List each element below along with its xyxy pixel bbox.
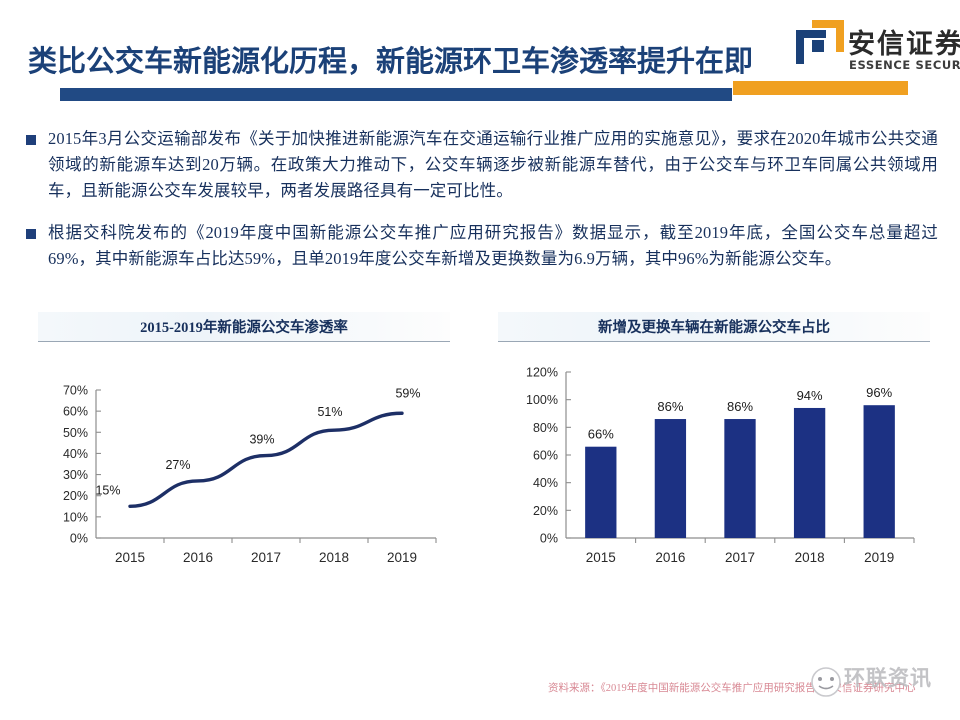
- x-tick-label: 2019: [864, 550, 894, 565]
- bar-plot-area: 0%20%40%60%80%100%120%66%86%86%94%96%201…: [498, 342, 930, 594]
- bar: [864, 405, 895, 538]
- slide-header: 类比公交车新能源化历程，新能源环卫车渗透率提升在即 安信证券 ESSENCE S…: [0, 0, 960, 108]
- chart-title: 新增及更换车辆在新能源公交车占比: [498, 316, 930, 337]
- x-tick-label: 2019: [387, 550, 417, 565]
- bullet-text: 根据交科院发布的《2019年度中国新能源公交车推广应用研究报告》数据显示，截至2…: [48, 220, 938, 272]
- logo-name-cn: 安信证券: [848, 22, 960, 61]
- bar-value-label: 94%: [797, 388, 823, 403]
- bar: [655, 419, 686, 538]
- smiley-face-icon: [806, 664, 846, 698]
- list-item: 2015年3月公交运输部发布《关于加快推进新能源汽车在交通运输行业推广应用的实施…: [26, 126, 938, 204]
- x-tick-label: 2017: [725, 550, 755, 565]
- bullet-square-icon: [26, 135, 36, 145]
- y-tick-label: 0%: [70, 532, 88, 546]
- x-tick-label: 2015: [115, 550, 145, 565]
- data-point-label: 27%: [165, 458, 190, 472]
- line-chart-svg: 0%10%20%30%40%50%60%70%20152016201720182…: [38, 342, 450, 594]
- x-tick-label: 2016: [655, 550, 685, 565]
- y-tick-label: 40%: [63, 447, 88, 461]
- data-point-label: 15%: [95, 483, 120, 497]
- data-point-label: 51%: [317, 405, 342, 419]
- chart-title: 2015-2019年新能源公交车渗透率: [38, 316, 450, 337]
- list-item: 根据交科院发布的《2019年度中国新能源公交车推广应用研究报告》数据显示，截至2…: [26, 220, 938, 272]
- y-tick-label: 50%: [63, 426, 88, 440]
- chart-penetration-rate: 2015-2019年新能源公交车渗透率 0%10%20%30%40%50%60%…: [38, 312, 450, 597]
- bar: [585, 447, 616, 538]
- bullet-text: 2015年3月公交运输部发布《关于加快推进新能源汽车在交通运输行业推广应用的实施…: [48, 126, 938, 204]
- title-underline-blue: [60, 88, 732, 101]
- line-plot-area: 0%10%20%30%40%50%60%70%20152016201720182…: [38, 342, 450, 594]
- y-tick-label: 20%: [533, 504, 558, 518]
- bar-value-label: 86%: [657, 399, 683, 414]
- x-tick-label: 2018: [795, 550, 825, 565]
- watermark: 环联资讯: [806, 658, 956, 702]
- bullet-square-icon: [26, 229, 36, 239]
- y-tick-label: 80%: [533, 421, 558, 435]
- bullet-list: 2015年3月公交运输部发布《关于加快推进新能源汽车在交通运输行业推广应用的实施…: [26, 126, 938, 288]
- chart-title-bar: 新增及更换车辆在新能源公交车占比: [498, 312, 930, 342]
- slide-page: 类比公交车新能源化历程，新能源环卫车渗透率提升在即 安信证券 ESSENCE S…: [0, 0, 960, 720]
- x-tick-label: 2015: [586, 550, 616, 565]
- y-tick-label: 40%: [533, 476, 558, 490]
- brand-logo: 安信证券 ESSENCE SECURITIES: [786, 18, 954, 90]
- bar-value-label: 86%: [727, 399, 753, 414]
- y-tick-label: 60%: [533, 449, 558, 463]
- logo-name-en: ESSENCE SECURITIES: [849, 58, 960, 72]
- bar-value-label: 96%: [866, 385, 892, 400]
- data-point-label: 39%: [249, 433, 274, 447]
- y-tick-label: 20%: [63, 489, 88, 503]
- chart-new-replacement-share: 新增及更换车辆在新能源公交车占比 0%20%40%60%80%100%120%6…: [498, 312, 930, 597]
- bar-value-label: 66%: [588, 427, 614, 442]
- page-title: 类比公交车新能源化历程，新能源环卫车渗透率提升在即: [28, 38, 753, 80]
- watermark-text: 环联资讯: [844, 662, 932, 692]
- chart-title-bar: 2015-2019年新能源公交车渗透率: [38, 312, 450, 342]
- y-tick-label: 0%: [540, 532, 558, 546]
- data-point-label: 59%: [395, 386, 420, 400]
- y-tick-label: 120%: [526, 366, 558, 380]
- y-tick-label: 70%: [63, 384, 88, 398]
- essence-securities-mark-icon: [786, 18, 850, 68]
- x-tick-label: 2018: [319, 550, 349, 565]
- x-tick-label: 2017: [251, 550, 281, 565]
- y-tick-label: 10%: [63, 510, 88, 524]
- bar: [794, 408, 825, 538]
- x-tick-label: 2016: [183, 550, 213, 565]
- bar-chart-svg: 0%20%40%60%80%100%120%66%86%86%94%96%201…: [498, 342, 930, 594]
- y-tick-label: 100%: [526, 393, 558, 407]
- y-tick-label: 60%: [63, 405, 88, 419]
- bar: [724, 419, 755, 538]
- y-tick-label: 30%: [63, 468, 88, 482]
